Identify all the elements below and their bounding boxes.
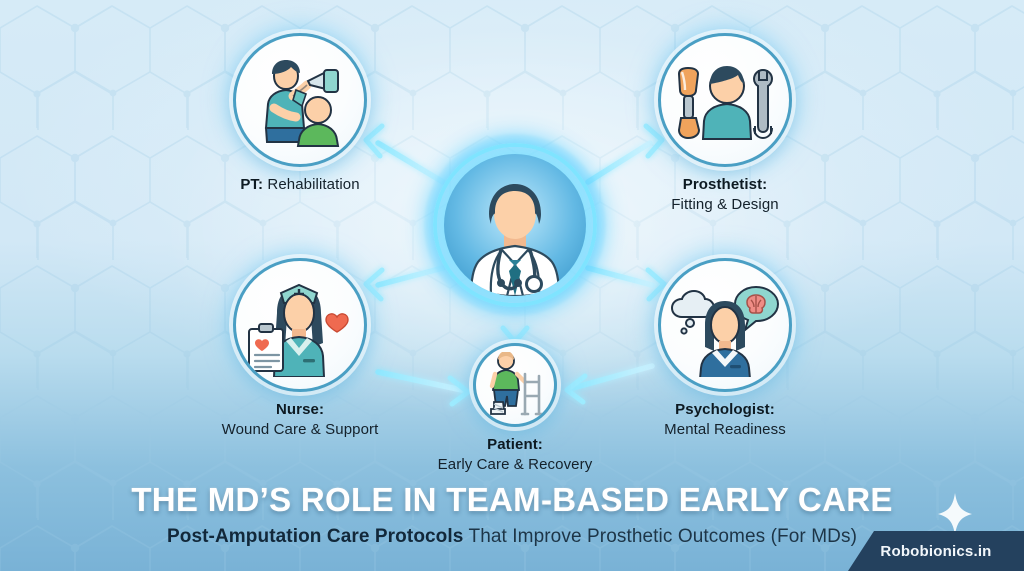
hub-doctor[interactable] <box>424 134 606 316</box>
psychologist-label-bold: Psychologist: <box>675 401 775 418</box>
prosthetist-label: Prosthetist: Fitting & Design <box>610 175 840 215</box>
node-patient[interactable]: Patient: Early Care & Recovery <box>473 343 557 427</box>
psychologist-label-rest: Mental Readiness <box>610 420 840 440</box>
prosthetist-label-rest: Fitting & Design <box>610 195 840 215</box>
subtitle-rest: That Improve Prosthetic Outcomes (For MD… <box>463 526 857 547</box>
subtitle-bold: Post-Amputation Care Protocols <box>167 526 463 547</box>
patient-label-bold: Patient: <box>487 436 543 453</box>
pt-label-bold: PT: <box>240 176 263 193</box>
prosthetist-icon <box>671 48 779 152</box>
nurse-label-bold: Nurse: <box>276 401 324 418</box>
infographic-canvas: PT: Rehabilitation Prost <box>0 0 1024 571</box>
node-pt[interactable]: PT: Rehabilitation <box>233 33 367 167</box>
psychologist-circle[interactable] <box>658 258 792 392</box>
nurse-label: Nurse: Wound Care & Support <box>182 400 418 440</box>
pt-circle[interactable] <box>233 33 367 167</box>
pt-label: PT: Rehabilitation <box>182 175 418 195</box>
nurse-label-rest: Wound Care & Support <box>182 420 418 440</box>
pt-label-rest: Rehabilitation <box>263 176 360 193</box>
patient-with-walker-icon <box>484 352 546 418</box>
psychologist-icon <box>670 273 780 377</box>
physical-therapist-icon <box>246 46 354 154</box>
patient-label: Patient: Early Care & Recovery <box>401 435 629 475</box>
nurse-circle[interactable] <box>233 258 367 392</box>
hub-disc <box>444 154 586 296</box>
nurse-icon <box>245 273 355 377</box>
psychologist-label: Psychologist: Mental Readiness <box>610 400 840 440</box>
brand-ribbon[interactable]: Robobionics.in <box>848 531 1024 571</box>
patient-circle[interactable] <box>473 343 557 427</box>
patient-label-rest: Early Care & Recovery <box>401 455 629 475</box>
page-title: THE MD’S ROLE IN TEAM-BASED EARLY CARE <box>0 481 1024 519</box>
prosthetist-label-bold: Prosthetist: <box>683 176 768 193</box>
node-prosthetist[interactable]: Prosthetist: Fitting & Design <box>658 33 792 167</box>
prosthetist-circle[interactable] <box>658 33 792 167</box>
node-nurse[interactable]: Nurse: Wound Care & Support <box>233 258 367 392</box>
node-psychologist[interactable]: Psychologist: Mental Readiness <box>658 258 792 392</box>
